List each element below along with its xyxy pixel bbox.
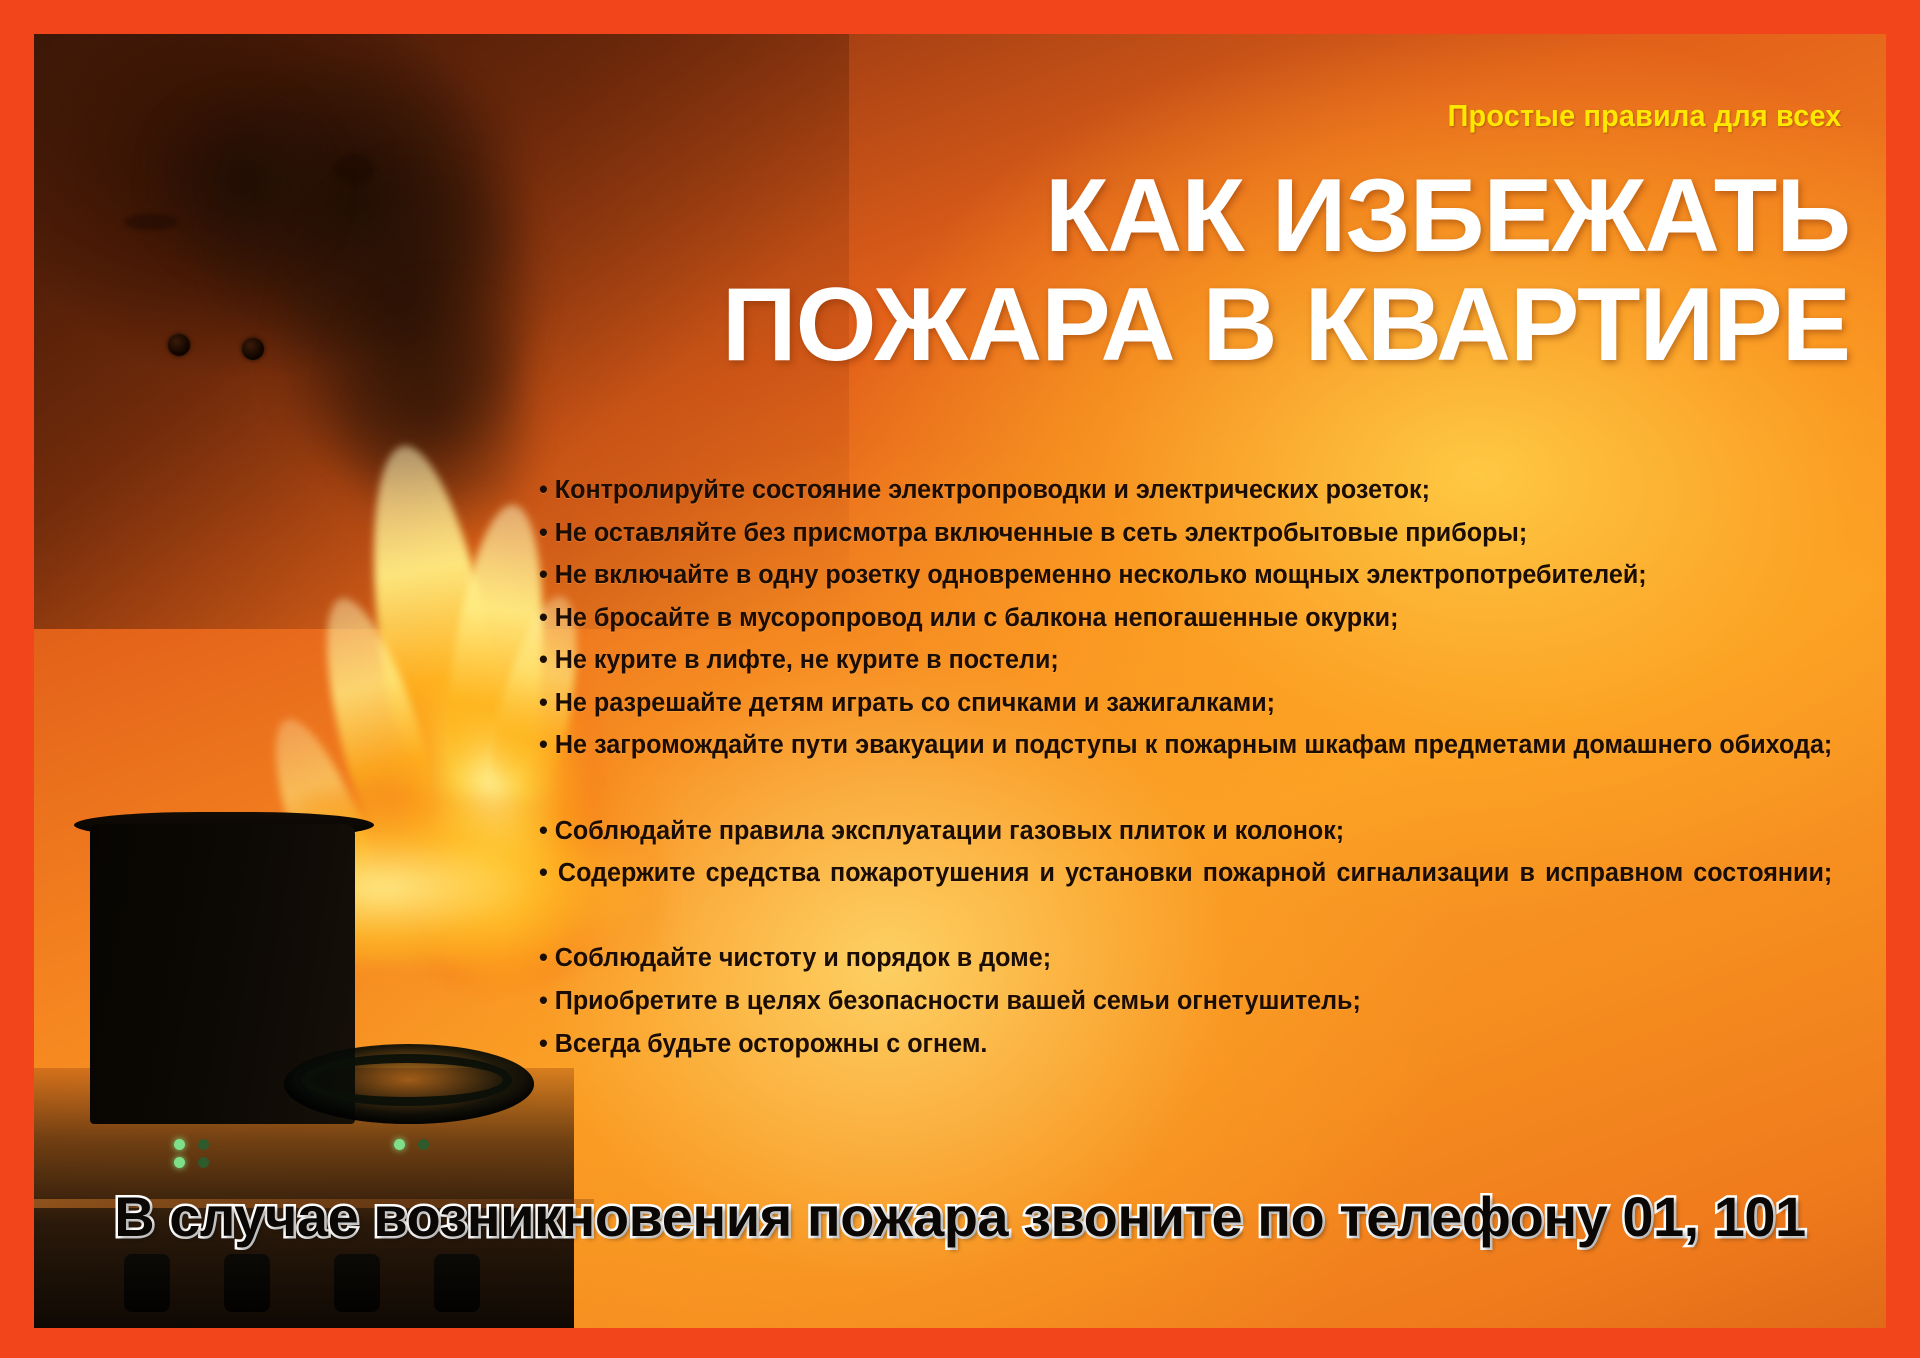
wall-screw xyxy=(168,334,190,356)
smoke-plume-icon xyxy=(154,94,334,274)
list-item: • Контролируйте состояние электропроводк… xyxy=(539,469,1832,512)
title-line-2: ПОЖАРА В КВАРТИРЕ xyxy=(554,271,1850,380)
list-item: • Не курите в лифте, не курите в постели… xyxy=(539,639,1832,682)
emergency-call-text: В случае возникновения пожара звоните по… xyxy=(34,1184,1886,1249)
list-item: • Соблюдайте чистоту и порядок в доме; xyxy=(539,937,1832,980)
emergency-footer-banner: В случае возникновения пожара звоните по… xyxy=(34,1128,1886,1328)
wall-speckle xyxy=(124,214,178,230)
page-title: КАК ИЗБЕЖАТЬ ПОЖАРА В КВАРТИРЕ xyxy=(554,162,1850,380)
safety-rules-list: • Контролируйте состояние электропроводк… xyxy=(539,469,1832,1065)
list-item: • Всегда будьте осторожны с огнем. xyxy=(539,1023,1832,1066)
list-item: • Не бросайте в мусоропровод или с балко… xyxy=(539,597,1832,640)
fire-safety-poster: Простые правила для всех КАК ИЗБЕЖАТЬ ПО… xyxy=(0,0,1920,1358)
gas-burner-ring xyxy=(302,1054,512,1106)
title-line-1: КАК ИЗБЕЖАТЬ xyxy=(554,162,1850,271)
list-item: • Содержите средства пожаротушения и уст… xyxy=(539,852,1832,937)
list-item: • Не разрешайте детям играть со спичками… xyxy=(539,682,1832,725)
flame-icon xyxy=(302,588,445,841)
wall-speckle xyxy=(334,154,374,184)
list-item: • Соблюдайте правила эксплуатации газовы… xyxy=(539,810,1832,853)
wall-screw xyxy=(242,338,264,360)
smoke-plume-icon xyxy=(249,139,569,510)
smoke-plume-icon xyxy=(166,34,551,385)
list-item: • Не загромождайте пути эвакуации и подс… xyxy=(539,724,1832,809)
list-item: • Приобретите в целях безопасности вашей… xyxy=(539,980,1832,1023)
smoke-plume-icon xyxy=(321,274,547,553)
list-item: • Не оставляйте без присмотра включенные… xyxy=(539,512,1832,555)
poster-artwork: Простые правила для всех КАК ИЗБЕЖАТЬ ПО… xyxy=(34,34,1886,1328)
flame-icon xyxy=(349,437,509,780)
wall-speckle xyxy=(454,694,524,716)
poster-tagline: Простые правила для всех xyxy=(1448,98,1842,134)
list-item: • Не включайте в одну розетку одновремен… xyxy=(539,554,1832,597)
